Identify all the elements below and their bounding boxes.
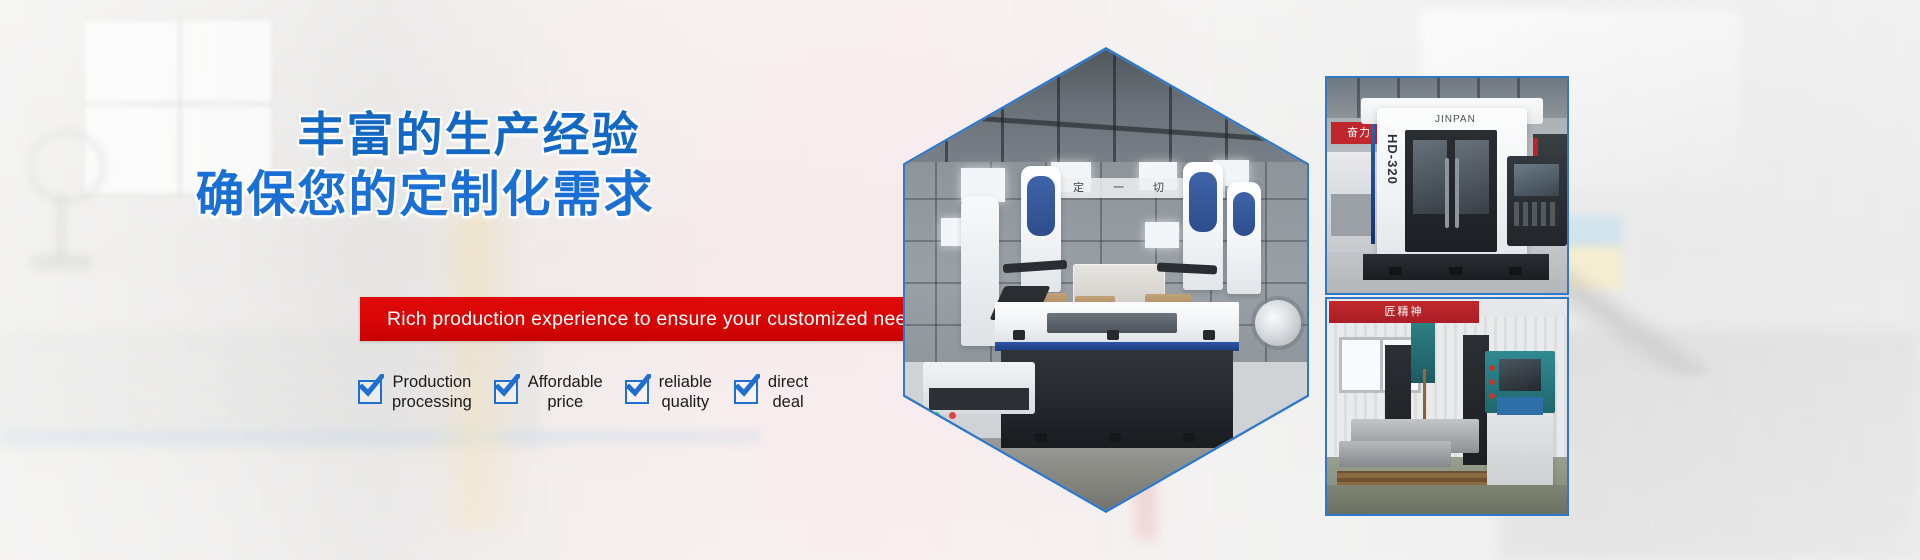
thumb1-model-label: HD-320 (1382, 134, 1400, 212)
machine-column-left (961, 196, 999, 346)
edm-wire-cut-thumb[interactable]: 匠精神 (1325, 297, 1569, 516)
promo-banner: 丰富的生产经验 确保您的定制化需求 Rich production experi… (0, 0, 1920, 560)
machine-coil (1255, 300, 1301, 346)
machine-column-4 (1227, 182, 1261, 294)
headline-line-2: 确保您的定制化需求 (0, 170, 850, 219)
thumb2-floor (1327, 485, 1567, 515)
checkbox-checked-icon (625, 380, 649, 404)
feature-item-direct-deal[interactable]: direct deal (734, 372, 808, 412)
hexagon-machine-photo[interactable]: 定 一 切 (903, 47, 1309, 513)
machine-conveyor (923, 362, 1035, 414)
thumb1-machine-door (1405, 130, 1497, 252)
feature-item-affordable-price[interactable]: Affordable price (494, 372, 603, 412)
subtitle-bar: Rich production experience to ensure you… (360, 297, 905, 341)
checkbox-checked-icon (358, 380, 382, 404)
thumb2-button-3 (1489, 393, 1495, 399)
feature-label: direct deal (768, 372, 808, 412)
copy-block: 丰富的生产经验 确保您的定制化需求 Rich production experi… (0, 0, 920, 560)
thumb1-brand-label: JINPAN (1435, 114, 1476, 125)
checkbox-checked-icon (734, 380, 758, 404)
thumb2-button-1 (1489, 365, 1495, 371)
machine-column-2 (1021, 166, 1061, 292)
headline: 丰富的生产经验 确保您的定制化需求 (0, 112, 850, 219)
feature-list: Production processing Affordable price r… (358, 372, 898, 422)
thumb2-wall-sign: 匠精神 (1329, 301, 1479, 323)
thumb2-control-strip (1497, 397, 1543, 415)
machine-table (995, 302, 1239, 344)
machine-base (1001, 350, 1233, 448)
cnc-machining-center-thumb[interactable]: 奋力 HD-320 JINPAN (1325, 76, 1569, 295)
scene-window-6 (1145, 222, 1179, 248)
factory-scene: 定 一 切 (905, 50, 1307, 510)
feature-label: Affordable price (528, 372, 603, 412)
thumb1-control-panel (1507, 156, 1567, 246)
thumb2-button-2 (1489, 379, 1495, 385)
headline-line-1: 丰富的生产经验 (0, 112, 850, 159)
scene-roof (905, 50, 1307, 168)
thumb2-screen (1499, 359, 1541, 391)
checkbox-checked-icon (494, 380, 518, 404)
scene-floor (905, 438, 1307, 510)
feature-item-reliable-quality[interactable]: reliable quality (625, 372, 712, 412)
thumb1-left-unit (1327, 152, 1377, 252)
feature-label: reliable quality (659, 372, 712, 412)
thumb1-blue-stripe (1371, 124, 1375, 244)
machine-led-red (949, 412, 956, 419)
feature-item-production-processing[interactable]: Production processing (358, 372, 472, 412)
feature-label: Production processing (392, 372, 472, 412)
thumb2-worktable-lower (1339, 441, 1451, 467)
subtitle-text: Rich production experience to ensure you… (360, 308, 928, 331)
thumb1-plinth (1363, 254, 1549, 280)
hexagon-photo-inner: 定 一 切 (905, 50, 1307, 510)
